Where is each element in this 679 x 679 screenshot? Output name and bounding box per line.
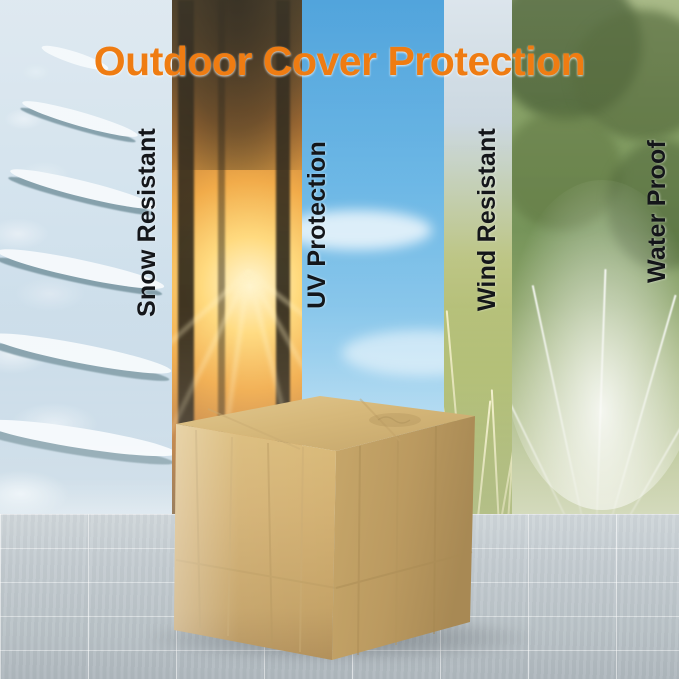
- feature-label-wind-resistant: Wind Resistant: [473, 128, 502, 311]
- product-cover-image: [0, 0, 679, 679]
- feature-label-snow-resistant: Snow Resistant: [133, 128, 162, 317]
- cover-logo-patch: [369, 413, 421, 427]
- feature-label-uv-protection: UV Protection: [303, 141, 332, 309]
- product-poster: Outdoor Cover Protection Snow Resistant …: [0, 0, 679, 679]
- cover-side-face: [332, 416, 475, 660]
- cover-highlight: [174, 424, 336, 660]
- page-title: Outdoor Cover Protection: [0, 38, 679, 85]
- feature-label-water-proof: Water Proof: [643, 140, 672, 283]
